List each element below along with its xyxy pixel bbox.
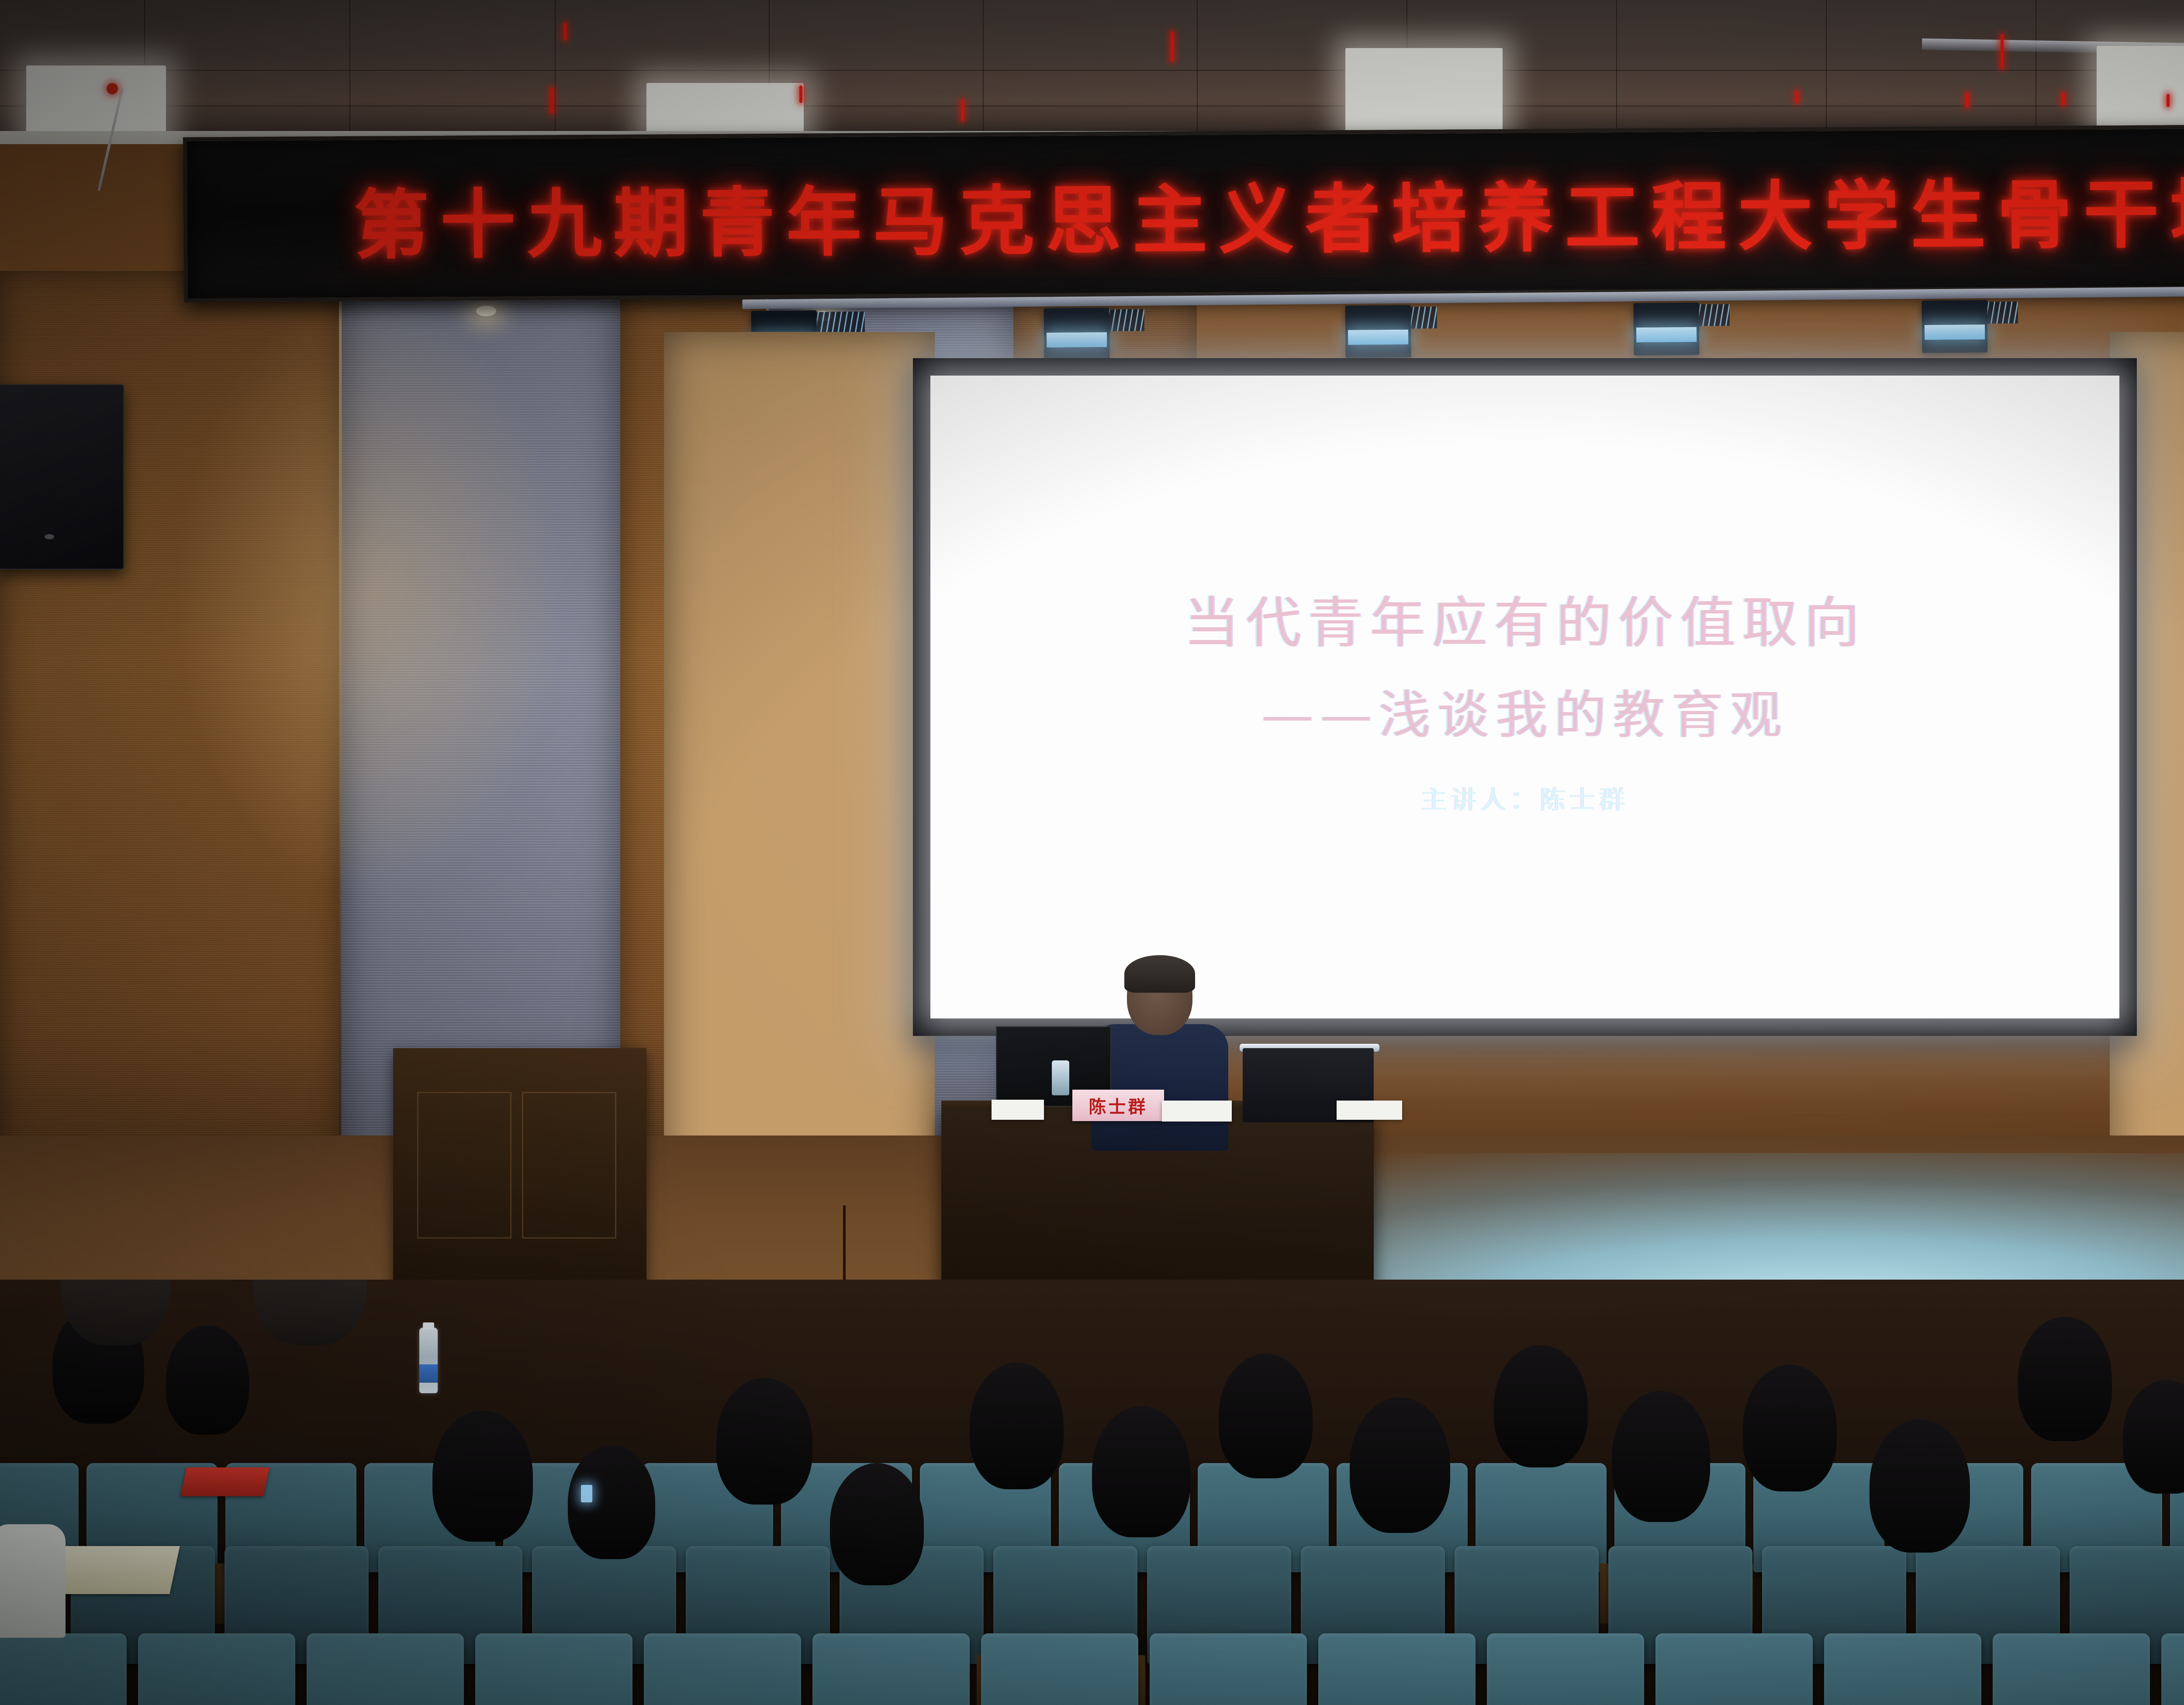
red-led-speck-10: [2167, 94, 2170, 107]
auditorium-seat: [2161, 1633, 2184, 1705]
red-led-speck-6: [961, 100, 964, 121]
water-bottle: [419, 1328, 438, 1393]
presenter-name-card: 陈士群: [1072, 1090, 1164, 1121]
stage-cabinet-door-1: [417, 1092, 511, 1239]
stage-cabinet-door-2: [522, 1092, 616, 1239]
audience-member-silhouette: [432, 1411, 533, 1542]
audience-member-silhouette: [1219, 1354, 1313, 1478]
phone-screen-glow-2: [581, 1485, 592, 1502]
red-led-speck-1: [563, 23, 567, 40]
auditorium-seat: [475, 1633, 632, 1705]
audience-member-silhouette: [2018, 1317, 2112, 1441]
audience-seating-area: [0, 1280, 2184, 1705]
audience-member-silhouette: [1494, 1345, 1588, 1467]
audience-member-silhouette: [1612, 1391, 1710, 1522]
audience-member-silhouette: [568, 1446, 655, 1559]
microphone-indicator-light: [107, 83, 118, 94]
audience-member-silhouette: [830, 1463, 924, 1585]
red-led-speck-3: [2001, 34, 2004, 69]
red-led-speck-4: [550, 87, 553, 114]
presenter-name-card-text: 陈士群: [1089, 1093, 1148, 1118]
presenter-hair: [1124, 955, 1195, 993]
audience-member-silhouette: [1870, 1419, 1970, 1553]
red-led-speck-5: [799, 86, 802, 103]
auditorium-seat: [307, 1633, 464, 1705]
slide-presenter: 主讲人：陈士群: [1421, 779, 1629, 816]
auditorium-seat: [812, 1633, 970, 1705]
audience-member-silhouette: [970, 1363, 1064, 1489]
stage-curtain-left: [664, 332, 935, 1240]
attendee-white-shirt-left: [0, 1524, 66, 1638]
auditorium-seat: [0, 1633, 127, 1705]
auditorium-seat: [1993, 1633, 2150, 1705]
audience-member-silhouette: [166, 1325, 249, 1435]
audience-member-silhouette: [1743, 1365, 1837, 1491]
paper-on-desk-3: [1337, 1101, 1402, 1120]
projection-screen-frame: 当代青年应有的价值取向 ——浅谈我的教育观 主讲人：陈士群: [913, 358, 2137, 1036]
red-led-speck-9: [2062, 93, 2065, 106]
auditorium-seat: [1487, 1633, 1644, 1705]
projection-screen: 当代青年应有的价值取向 ——浅谈我的教育观 主讲人：陈士群: [930, 376, 2119, 1018]
auditorium-photo: 第十九期青年马克思主义者培养工程大学生骨干培训班专题报告 当代青年应有的价值取向…: [0, 0, 2184, 1705]
red-led-speck-8: [1966, 93, 1969, 107]
auditorium-seat: [981, 1633, 1138, 1705]
slide-title: 当代青年应有的价值取向: [1184, 579, 1866, 658]
auditorium-seat: [644, 1633, 801, 1705]
auditorium-seat: [138, 1633, 295, 1705]
auditorium-seat: [1318, 1633, 1476, 1705]
audience-member-silhouette: [1092, 1406, 1190, 1537]
paper-on-desk: [1162, 1101, 1232, 1122]
auditorium-seat: [1655, 1633, 1813, 1705]
auditorium-seat: [1150, 1633, 1307, 1705]
ceiling: [0, 0, 2184, 144]
paper-on-desk-2: [992, 1100, 1044, 1120]
red-led-speck-2: [1171, 31, 1174, 62]
led-banner: 第十九期青年马克思主义者培养工程大学生骨干培训班专题报告: [183, 121, 2184, 302]
red-led-speck-7: [1795, 91, 1798, 103]
auditorium-seat: [1824, 1633, 1981, 1705]
presenter-body: [1091, 1024, 1228, 1151]
audience-member-silhouette: [716, 1378, 812, 1505]
presenter-water-cup: [1052, 1060, 1069, 1095]
wall-speaker-left: [0, 384, 124, 569]
audience-member-silhouette: [1350, 1398, 1450, 1533]
red-book: [180, 1467, 270, 1496]
led-banner-text: 第十九期青年马克思主义者培养工程大学生骨干培训班专题报告: [342, 149, 2184, 273]
ceiling-light-panel-3: [1345, 48, 1503, 135]
slide-subtitle: ——浅谈我的教育观: [1261, 673, 1788, 748]
ceiling-light-panel-4: [2097, 46, 2184, 133]
